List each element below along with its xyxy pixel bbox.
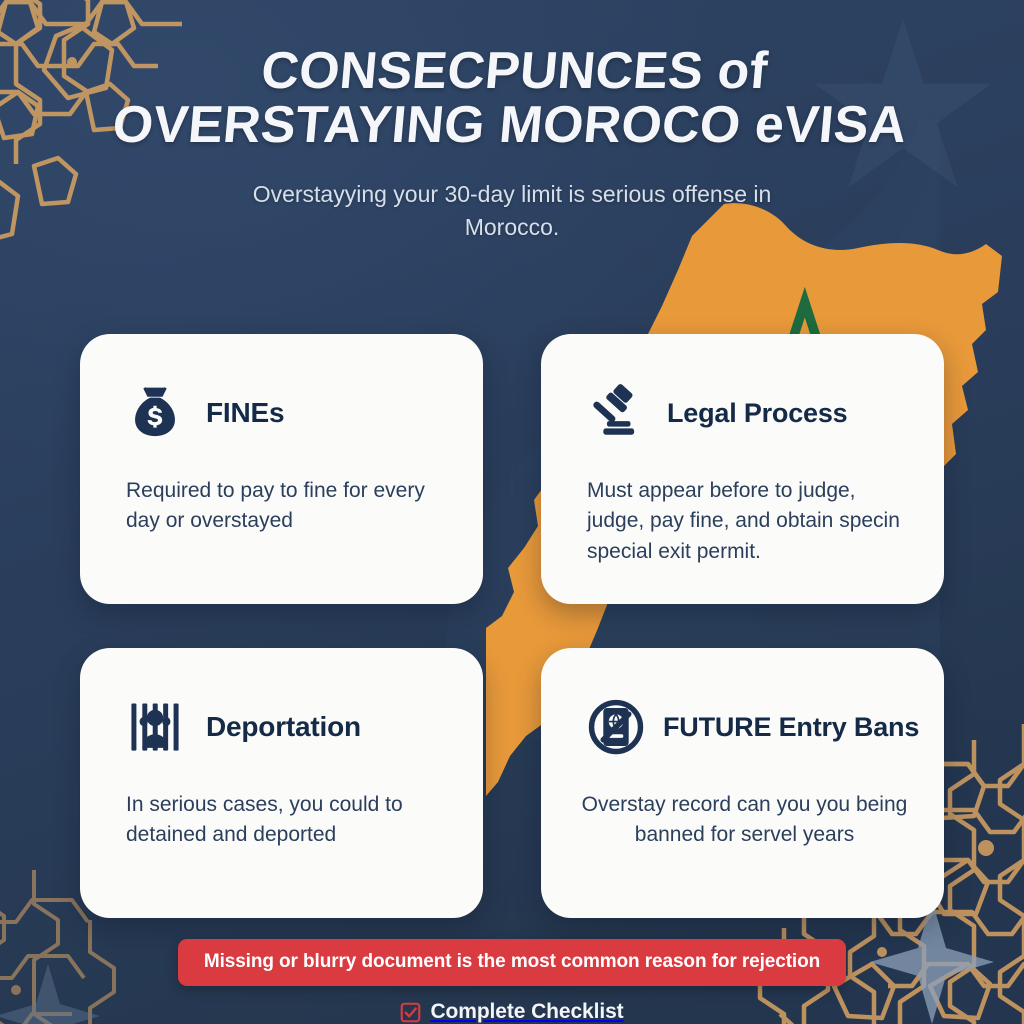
rejection-alert-banner: Missing or blurry document is the most c…: [178, 939, 846, 986]
page-title: CONSECPUNCES of OVERSTAYING MOROCO eVISA: [67, 44, 956, 152]
gavel-icon: [587, 384, 645, 442]
consequence-card-grid: FINEs Required to pay to fine for every …: [80, 334, 944, 918]
card-legal-process[interactable]: Legal Process Must appear before to judg…: [541, 334, 944, 604]
card-title: FUTURE Entry Bans: [663, 712, 919, 743]
card-header: FUTURE Entry Bans: [587, 690, 908, 764]
checked-box-icon: [400, 1002, 421, 1023]
card-title: Legal Process: [667, 398, 848, 429]
card-fines[interactable]: FINEs Required to pay to fine for every …: [80, 334, 483, 604]
money-bag-icon: [126, 384, 184, 442]
title-line-1: CONSECPUNCES of: [259, 42, 770, 100]
poster-header: CONSECPUNCES of OVERSTAYING MOROCO eVISA…: [0, 44, 1024, 243]
card-header: FINEs: [126, 376, 447, 450]
prison-bars-icon: [126, 698, 184, 756]
card-body: Required to pay to fine for every day or…: [126, 476, 447, 537]
complete-checklist-link[interactable]: Complete Checklist: [400, 1000, 623, 1024]
card-deportation[interactable]: Deportation In serious cases, you could …: [80, 648, 483, 918]
card-title: FINEs: [206, 397, 284, 429]
no-passport-icon: [587, 698, 645, 756]
card-title: Deportation: [206, 711, 361, 743]
card-body: In serious cases, you could to detained …: [126, 790, 447, 851]
infographic-poster: CONSECPUNCES of OVERSTAYING MOROCO eVISA…: [0, 0, 1024, 1024]
page-subtitle: Overstayying your 30-day limit is seriou…: [242, 178, 782, 243]
card-header: Legal Process: [587, 376, 908, 450]
card-body: Overstay record can you you being banned…: [581, 790, 908, 851]
card-body: Must appear before to judge, judge, pay …: [587, 476, 908, 567]
card-header: Deportation: [126, 690, 447, 764]
checklist-label: Complete Checklist: [430, 1000, 623, 1024]
card-future-entry-bans[interactable]: FUTURE Entry Bans Overstay record can yo…: [541, 648, 944, 918]
title-line-2: OVERSTAYING MOROCO eVISA: [110, 96, 909, 154]
